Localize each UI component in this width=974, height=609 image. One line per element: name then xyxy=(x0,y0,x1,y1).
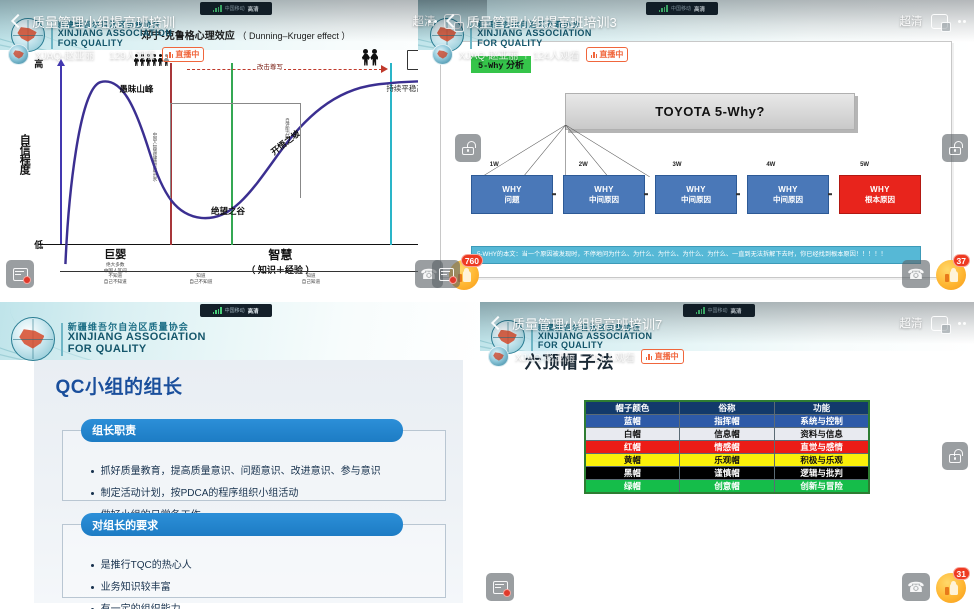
carrier-label: 中国移动 xyxy=(225,5,245,12)
list-item: 制定活动计划，按PDCA的程序组织小组活动 xyxy=(90,487,433,500)
table-row: 蓝帽 指挥帽 系统与控制 xyxy=(585,414,870,427)
why-label: WHY xyxy=(778,185,798,195)
column-header-function: 功能 xyxy=(774,401,869,415)
tick-1w: 1W xyxy=(490,162,499,168)
why-box: WHY 问题 xyxy=(471,175,553,214)
hat-nickname: 情感帽 xyxy=(680,440,775,453)
person-icon xyxy=(362,49,370,66)
hat-color: 黄帽 xyxy=(585,453,680,466)
five-why-document: 5-Why 分析 TOYOTA 5-Why? 1W 2W xyxy=(440,41,952,278)
why-cause: 根本原因 xyxy=(865,195,895,204)
table-row: 黑帽 谨慎帽 逻辑与批判 xyxy=(585,466,870,479)
slide-dunning-kruger: 新疆维吾尔自治区质量协会 XINJIANG ASSOCIATION FOR QU… xyxy=(0,0,487,296)
carrier-label: 中国移动 xyxy=(225,307,245,314)
why-cause: 中间原因 xyxy=(773,195,803,204)
xjaq-logo-icon xyxy=(11,18,45,52)
status-quality-label: 高清 xyxy=(731,307,742,315)
five-why-note: 5-WHY的本文：当一个原因被发现时，不停地问为什么、为什么、为什么、为什么、为… xyxy=(471,246,921,264)
brand-name-en-line2: FOR QUALITY xyxy=(58,39,173,49)
qc-content-card: QC小组的组长 抓好质量教育，提高质量意识、问题意识、改进意识、参与意识 制定活… xyxy=(34,360,463,603)
carrier-label: 中国移动 xyxy=(708,307,728,314)
person-icon xyxy=(140,54,146,66)
why-box: WHY 中间原因 xyxy=(563,175,645,214)
slide-qc-leader: 新疆维吾尔自治区质量协会 XINJIANG ASSOCIATION FOR QU… xyxy=(0,302,487,609)
brand-name-en-line2: FOR QUALITY xyxy=(477,39,592,49)
qc-section-header: 对组长的要求 xyxy=(81,513,403,536)
xjaq-logo-icon xyxy=(430,18,464,52)
live-panel-qc-leader[interactable]: 新疆维吾尔自治区质量协会 XINJIANG ASSOCIATION FOR QU… xyxy=(0,302,487,609)
table-header-row: 帽子颜色 俗称 功能 xyxy=(585,401,870,415)
person-icon xyxy=(158,54,164,66)
xjaq-logo-icon xyxy=(491,320,525,354)
x-seg-0: 巨婴 绝大多数中国人区间 xyxy=(60,246,170,273)
fan-connector-lines xyxy=(462,125,669,177)
slide-six-hats: 新疆维吾尔自治区质量协会 XINJIANG ASSOCIATION FOR QU… xyxy=(480,302,974,609)
hat-function: 逻辑与批判 xyxy=(774,466,869,479)
person-icon xyxy=(152,54,158,66)
six-hats-heading: 六顶帽子法 xyxy=(524,348,614,373)
carrier-label: 中国移动 xyxy=(671,5,691,12)
why-box: WHY 中间原因 xyxy=(747,175,829,214)
why-box: WHY 中间原因 xyxy=(655,175,737,214)
tick-4w: 4W xyxy=(766,162,775,168)
why-label: WHY xyxy=(594,185,614,195)
why-cause: 中间原因 xyxy=(589,195,619,204)
table-row: 黄帽 乐观帽 积极与乐观 xyxy=(585,453,870,466)
qc-section-duties: 抓好质量教育，提高质量意识、问题意识、改进意识、参与意识 制定活动计划，按PDC… xyxy=(62,419,446,501)
live-panel-dunning-kruger[interactable]: 新疆维吾尔自治区质量协会 XINJIANG ASSOCIATION FOR QU… xyxy=(0,0,487,296)
qc-requirement-list: 是推行TQC的热心人 业务知识较丰富 有一定的组织能力 xyxy=(90,559,433,593)
qc-duty-list: 抓好质量教育，提高质量意识、问题意识、改进意识、参与意识 制定活动计划，按PDC… xyxy=(90,465,433,496)
status-quality-label: 高清 xyxy=(248,5,259,13)
hat-nickname: 谨慎帽 xyxy=(680,466,775,479)
slide-five-why: 新疆维吾尔自治区质量协会 XINJIANG ASSOCIATION FOR QU… xyxy=(418,0,974,296)
live-panel-five-why[interactable]: 新疆维吾尔自治区质量协会 XINJIANG ASSOCIATION FOR QU… xyxy=(418,0,974,296)
hat-function: 创新与冒险 xyxy=(774,479,869,493)
crowd-group-peak xyxy=(134,54,170,66)
qc-heading: QC小组的组长 xyxy=(56,372,183,399)
why-label: WHY xyxy=(686,185,706,195)
hat-nickname: 指挥帽 xyxy=(680,414,775,427)
slide-brand: 新疆维吾尔自治区质量协会 XINJIANG ASSOCIATION FOR QU… xyxy=(11,18,173,52)
hat-nickname: 乐观帽 xyxy=(680,453,775,466)
why-label: WHY xyxy=(502,185,522,195)
why-box-row: WHY 问题 WHY 中间原因 WHY 中间原因 xyxy=(471,175,921,214)
tick-5w: 5W xyxy=(860,162,869,168)
table-row: 红帽 情感帽 直觉与感情 xyxy=(585,440,870,453)
tick-2w: 2W xyxy=(579,162,588,168)
y-axis-low-label: 低 xyxy=(34,238,43,251)
brand-name-en-line2: FOR QUALITY xyxy=(68,344,206,356)
hat-function: 系统与控制 xyxy=(774,414,869,427)
crowd-group-plateau xyxy=(362,49,379,66)
why-box-root-cause: WHY 根本原因 xyxy=(839,175,921,214)
hat-nickname: 创意帽 xyxy=(680,479,775,493)
qc-section-requirements: 是推行TQC的热心人 业务知识较丰富 有一定的组织能力 对组长的要求 xyxy=(62,513,446,598)
five-why-diagram: 5-Why 分析 TOYOTA 5-Why? 1W 2W xyxy=(462,52,931,268)
quadrant-0-bottom: 自己不知道 xyxy=(60,279,170,285)
chip-cn: 分析 xyxy=(506,60,524,70)
column-header-color: 帽子颜色 xyxy=(585,401,680,415)
peak-label: 愚昧山峰 xyxy=(119,83,153,95)
video-stage: 新疆维吾尔自治区质量协会 XINJIANG ASSOCIATION FOR QU… xyxy=(480,302,974,609)
x-seg-0-label: 巨婴 xyxy=(60,246,170,262)
quadrant-0: 不知道 自己不知道 xyxy=(60,273,170,284)
list-item: 是推行TQC的热心人 xyxy=(90,559,433,572)
xjaq-logo-icon xyxy=(11,317,55,361)
phone-status-notch: 中国移动 高清 xyxy=(200,2,272,15)
table-row: 白帽 信息帽 资料与信息 xyxy=(585,427,870,440)
phone-status-notch: 中国移动 高清 xyxy=(683,304,755,317)
hat-function: 资料与信息 xyxy=(774,427,869,440)
column-header-nickname: 俗称 xyxy=(680,401,775,415)
phone-status-notch: 中国移动 高清 xyxy=(200,304,272,317)
dunning-kruger-chart: 邓宁-克鲁格心理效应 （ Dunning–Kruger effect ） 高 低… xyxy=(19,27,472,288)
hat-function: 积极与乐观 xyxy=(774,453,869,466)
section-chip: 5-Why 分析 xyxy=(471,56,531,73)
person-icon xyxy=(134,54,140,66)
six-hats-content: 六顶帽子法 帽子颜色 俗称 功能 蓝帽 指挥帽 系统与控制 xyxy=(480,348,974,594)
person-icon xyxy=(370,49,378,66)
person-icon xyxy=(164,54,170,66)
video-stage: 新疆维吾尔自治区质量协会 XINJIANG ASSOCIATION FOR QU… xyxy=(0,302,487,609)
person-icon xyxy=(146,54,152,66)
x-seg-1-label: 智慧 xyxy=(170,246,390,263)
signal-bars-icon xyxy=(213,5,222,12)
hat-nickname: 信息帽 xyxy=(680,427,775,440)
valley-label: 绝望之谷 xyxy=(211,205,245,217)
bracket-label: 自评能力区 xyxy=(284,118,290,139)
chart-plot-area: 高 低 自信程度 中国人智慧成峰最高导出水 xyxy=(60,63,468,245)
hat-color: 白帽 xyxy=(585,427,680,440)
status-quality-label: 高清 xyxy=(248,307,259,315)
quadrant-1-bottom: 自己不知道 xyxy=(170,279,231,285)
signal-bars-icon xyxy=(659,5,668,12)
chart-title-en: （ Dunning–Kruger effect ） xyxy=(238,31,351,41)
quadrant-2-bottom: 自己知道 xyxy=(231,279,390,285)
status-quality-label: 高清 xyxy=(694,5,705,13)
slide-brand: 新疆维吾尔自治区质量协会 XINJIANG ASSOCIATION FOR QU… xyxy=(430,18,592,52)
why-cause: 中间原因 xyxy=(681,195,711,204)
diagram-heading: TOYOTA 5-Why? xyxy=(565,93,856,130)
self-assessment-bracket xyxy=(170,103,300,198)
y-axis-high-label: 高 xyxy=(34,57,43,70)
hat-color: 黑帽 xyxy=(585,466,680,479)
screenshot-grid: 新疆维吾尔自治区质量协会 XINJIANG ASSOCIATION FOR QU… xyxy=(0,0,974,609)
hat-color: 蓝帽 xyxy=(585,414,680,427)
signal-bars-icon xyxy=(213,307,222,314)
x-axis-band: 巨婴 绝大多数中国人区间 智慧 （ 知识＋经验 ） 大师 不知道 xyxy=(60,245,468,287)
list-item: 有一定的组织能力 xyxy=(90,603,433,609)
attack-arrow xyxy=(187,69,383,70)
hat-function: 直觉与感情 xyxy=(774,440,869,453)
hat-color: 红帽 xyxy=(585,440,680,453)
attack-arrow-label: 改击尊写 xyxy=(256,61,284,71)
list-item: 抓好质量教育，提高质量意识、问题意识、改进意识、参与意识 xyxy=(90,465,433,478)
signal-bars-icon xyxy=(696,307,705,314)
video-stage: 新疆维吾尔自治区质量协会 XINJIANG ASSOCIATION FOR QU… xyxy=(0,0,487,296)
y-axis-title: 自信程度 xyxy=(16,134,32,174)
why-cause: 问题 xyxy=(505,195,520,204)
table-row: 绿帽 创意帽 创新与冒险 xyxy=(585,479,870,493)
list-item: 业务知识较丰富 xyxy=(90,581,433,594)
video-stage: 新疆维吾尔自治区质量协会 XINJIANG ASSOCIATION FOR QU… xyxy=(418,0,974,296)
quadrant-1: 知道 自己不知道 xyxy=(170,273,231,284)
six-hats-table: 帽子颜色 俗称 功能 蓝帽 指挥帽 系统与控制 白帽 信息帽 资料与信息 xyxy=(584,400,871,494)
quadrant-2: 知道 自己知道 xyxy=(231,273,390,284)
why-label: WHY xyxy=(870,185,890,195)
hat-color: 绿帽 xyxy=(585,479,680,493)
live-panel-six-hats[interactable]: 新疆维吾尔自治区质量协会 XINJIANG ASSOCIATION FOR QU… xyxy=(480,302,974,609)
tick-3w: 3W xyxy=(673,162,682,168)
phone-status-notch: 中国移动 高清 xyxy=(646,2,718,15)
qc-section-header: 组长职责 xyxy=(81,419,403,442)
chip-en: 5-Why xyxy=(478,61,504,71)
slide-brand: 新疆维吾尔自治区质量协会 XINJIANG ASSOCIATION FOR QU… xyxy=(11,317,206,361)
